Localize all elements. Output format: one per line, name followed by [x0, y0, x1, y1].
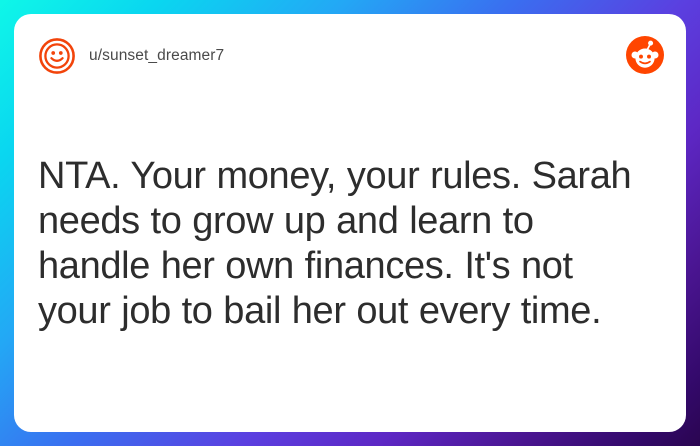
reddit-snoo-icon [626, 36, 664, 74]
comment-text: NTA. Your money, your rules. Sarah needs… [38, 154, 650, 334]
card-header: u/sunset_dreamer7 [14, 14, 686, 92]
screenshot-root: u/sunset_dreamer7 NTA. Your money, your … [0, 0, 700, 446]
author-username: u/sunset_dreamer7 [89, 47, 224, 65]
smiley-face-icon [38, 37, 76, 75]
avatar[interactable] [38, 37, 76, 75]
comment-body: NTA. Your money, your rules. Sarah needs… [38, 154, 650, 334]
author-block[interactable]: u/sunset_dreamer7 [38, 37, 224, 75]
reddit-comment-card: u/sunset_dreamer7 NTA. Your money, your … [14, 14, 686, 432]
